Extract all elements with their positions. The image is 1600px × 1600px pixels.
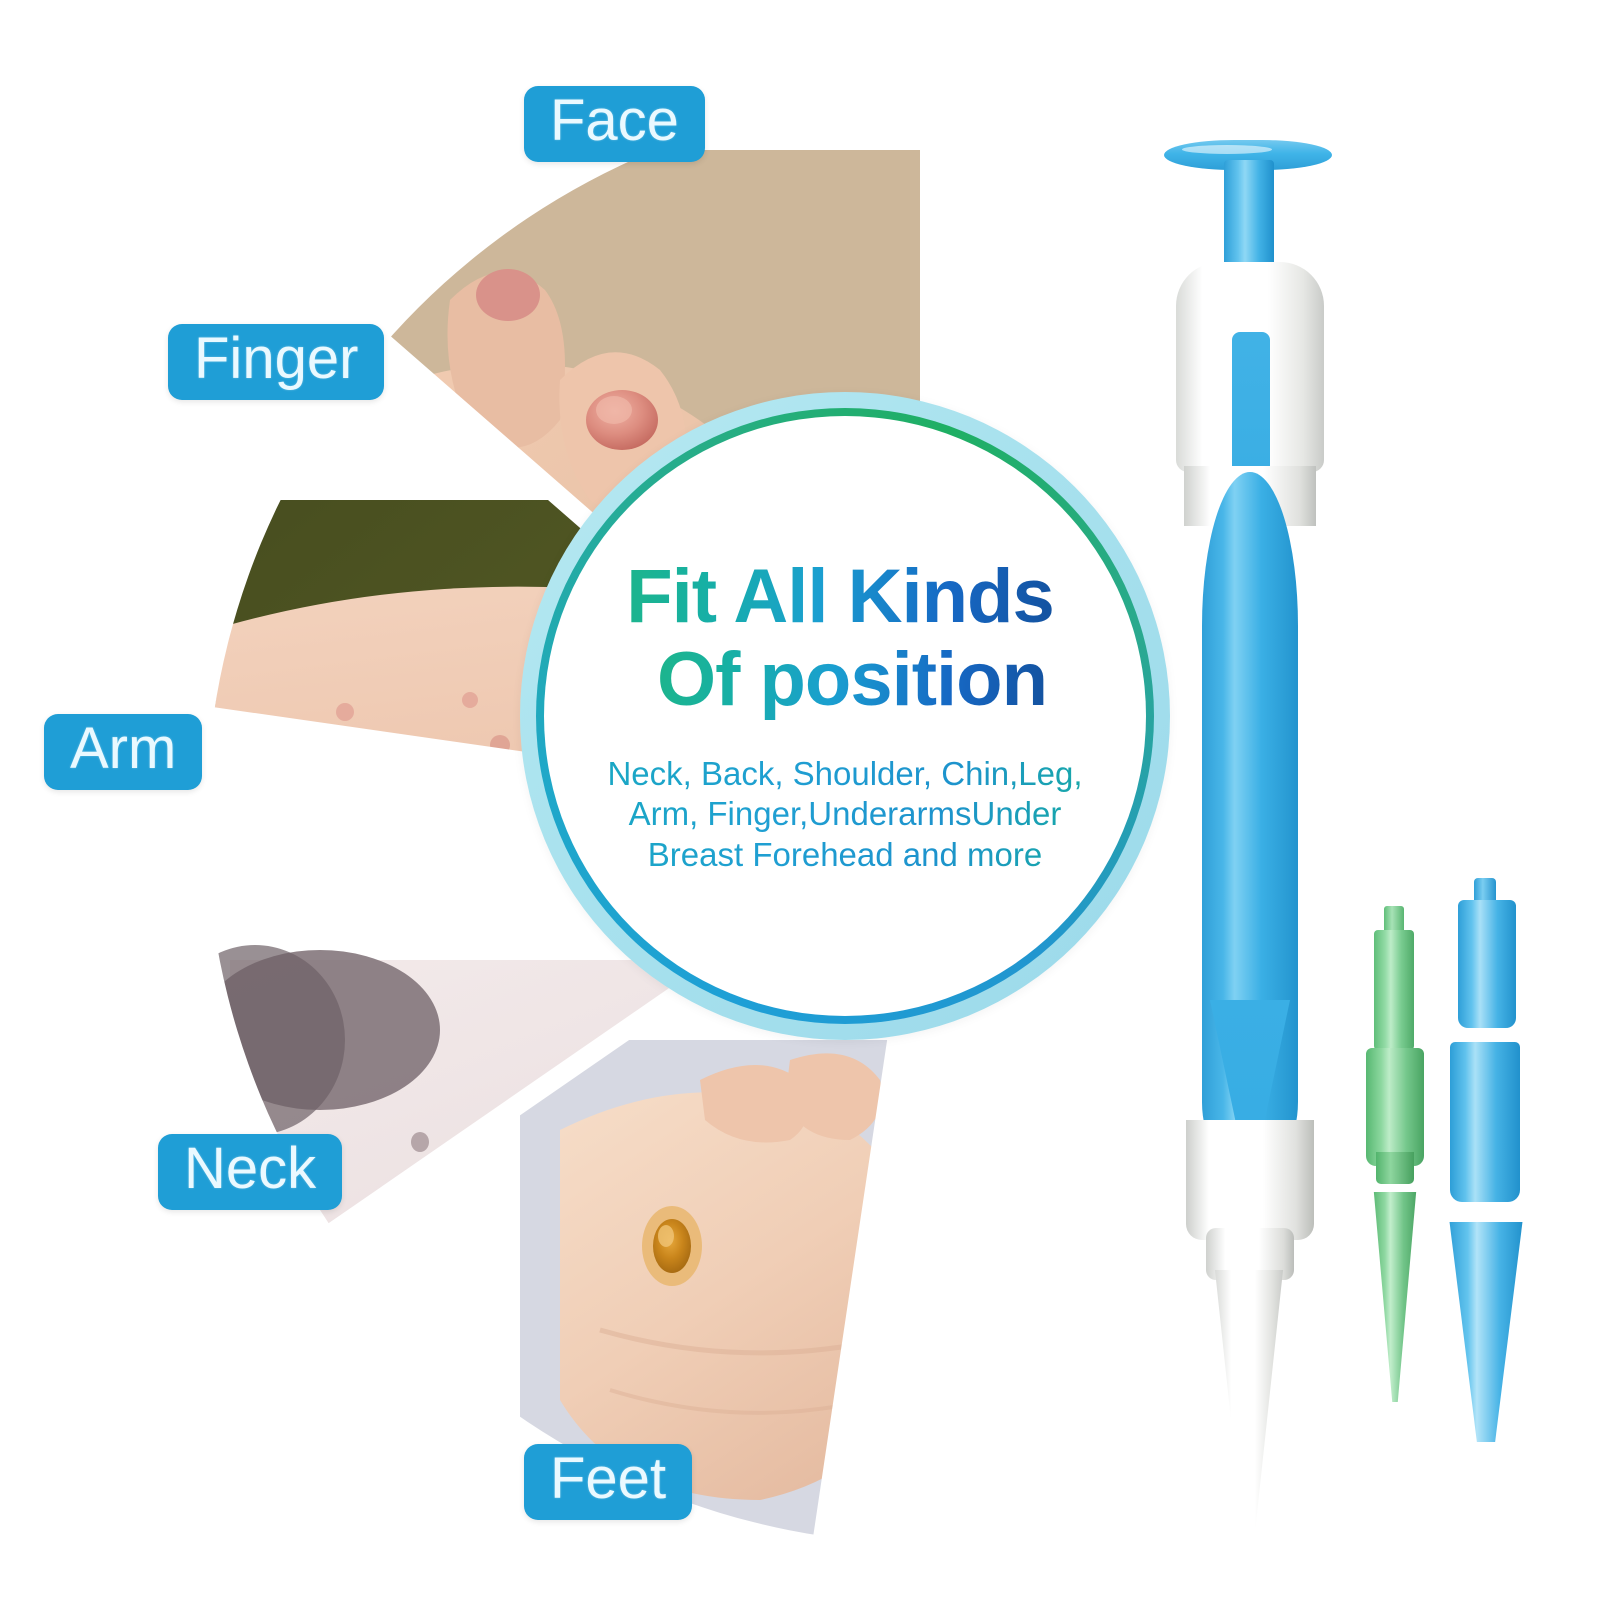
label-pill-finger: Finger [168,324,384,400]
label-pill-arm: Arm [44,714,202,790]
label-pill-neck: Neck [158,1134,342,1210]
headline-line-1: Fit All Kinds [626,557,1054,638]
green-wide-tip [1366,1048,1424,1166]
product-marketing-image: Fit All Kinds Of position Neck, Back, Sh… [0,0,1600,1600]
body-areas-line-3: Breast Forehead and more [607,835,1082,875]
plunger-cap-highlight [1182,145,1272,154]
body-areas-line-2: Arm, Finger,UnderarmsUnder [607,794,1082,834]
blue-small-tip [1458,900,1516,1028]
blue-wide-tip [1450,1042,1520,1202]
plunger-stem [1224,160,1274,270]
label-pill-face: Face [524,86,705,162]
pen-lower-body [1186,1120,1314,1240]
headline-line-2: Of position [657,640,1047,721]
body-areas-line-1: Neck, Back, Shoulder, Chin,Leg, [607,754,1082,794]
oval-inner-panel: Fit All Kinds Of position Neck, Back, Sh… [544,416,1146,1016]
pen-head-accent-stripe [1232,332,1270,484]
label-pill-feet: Feet [524,1444,692,1520]
green-small-tip [1374,930,1414,1050]
center-oval-callout: Fit All Kinds Of position Neck, Back, Sh… [520,392,1170,1040]
body-areas-list: Neck, Back, Shoulder, Chin,Leg, Arm, Fin… [607,754,1082,875]
green-wide-tip-base [1376,1152,1414,1184]
